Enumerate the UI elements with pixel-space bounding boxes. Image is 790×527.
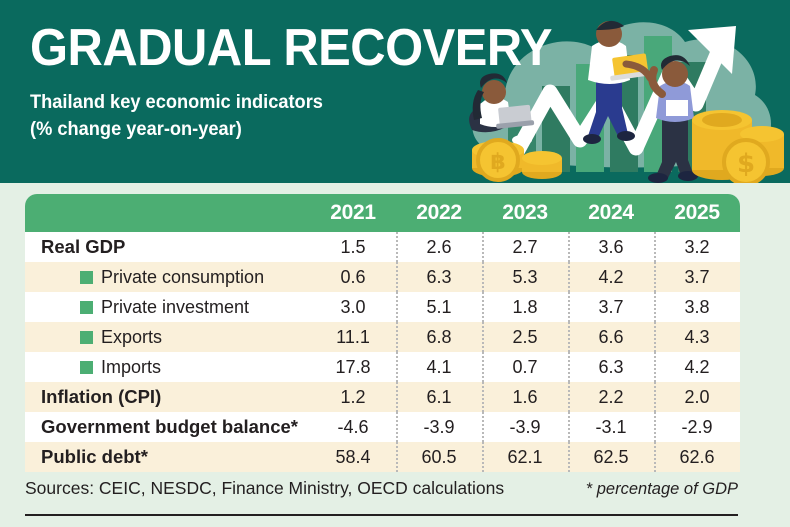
cell-value: 11.1: [310, 322, 396, 352]
cell-value: 4.1: [396, 352, 482, 382]
cell-value: 1.8: [482, 292, 568, 322]
indicators-table: 2021 2022 2023 2024 2025 Real GDP1.52.62…: [25, 194, 740, 472]
header-banner: GRADUAL RECOVERY Thailand key economic i…: [0, 0, 790, 183]
cell-value: 60.5: [396, 442, 482, 472]
coin-dollar-icon: $: [724, 140, 768, 183]
cell-value: 62.5: [568, 442, 654, 472]
cell-value: 62.1: [482, 442, 568, 472]
coin-baht-icon: ฿: [478, 140, 518, 180]
cell-value: 3.6: [568, 232, 654, 262]
svg-text:$: $: [737, 149, 755, 179]
row-label-text: Imports: [101, 357, 161, 377]
table-header: 2021 2022 2023 2024 2025: [25, 194, 740, 232]
indicators-table-wrapper: 2021 2022 2023 2024 2025 Real GDP1.52.62…: [25, 194, 740, 472]
table-row: Public debt*58.460.562.162.562.6: [25, 442, 740, 472]
cell-value: 6.3: [396, 262, 482, 292]
column-header-2023: 2023: [482, 194, 568, 232]
row-label-text: Private investment: [101, 297, 249, 317]
row-label: Private investment: [25, 292, 310, 322]
sources-text: Sources: CEIC, NESDC, Finance Ministry, …: [25, 478, 504, 499]
cell-value: 2.6: [396, 232, 482, 262]
cell-value: 2.5: [482, 322, 568, 352]
cell-value: 6.3: [568, 352, 654, 382]
page-title: GRADUAL RECOVERY: [30, 20, 552, 76]
subtitle-line-1: Thailand key economic indicators: [30, 90, 563, 115]
cell-value: 0.7: [482, 352, 568, 382]
bullet-square-icon: [80, 331, 93, 344]
table-row: Private consumption0.66.35.34.23.7: [25, 262, 740, 292]
cell-value: 58.4: [310, 442, 396, 472]
cell-value: 2.7: [482, 232, 568, 262]
cell-value: 2.0: [654, 382, 740, 412]
header-text-group: GRADUAL RECOVERY Thailand key economic i…: [30, 20, 585, 142]
table-row: Real GDP1.52.62.73.63.2: [25, 232, 740, 262]
cell-value: 4.2: [654, 352, 740, 382]
cell-value: 6.8: [396, 322, 482, 352]
cell-value: 3.7: [568, 292, 654, 322]
cell-value: 3.7: [654, 262, 740, 292]
table-row: Exports11.16.82.56.64.3: [25, 322, 740, 352]
column-header-indicator: [25, 194, 310, 232]
cell-value: 2.2: [568, 382, 654, 412]
cell-value: 5.3: [482, 262, 568, 292]
cell-value: 1.2: [310, 382, 396, 412]
cell-value: 6.6: [568, 322, 654, 352]
cell-value: 6.1: [396, 382, 482, 412]
cell-value: 62.6: [654, 442, 740, 472]
cell-value: -3.9: [396, 412, 482, 442]
column-header-2021: 2021: [310, 194, 396, 232]
table-header-row: 2021 2022 2023 2024 2025: [25, 194, 740, 232]
cell-value: 4.2: [568, 262, 654, 292]
cell-value: 3.8: [654, 292, 740, 322]
bottom-divider: [25, 514, 738, 516]
table-body: Real GDP1.52.62.73.63.2Private consumpti…: [25, 232, 740, 472]
bullet-square-icon: [80, 271, 93, 284]
cell-value: 1.6: [482, 382, 568, 412]
cell-value: 5.1: [396, 292, 482, 322]
row-label-text: Exports: [101, 327, 162, 347]
column-header-2025: 2025: [654, 194, 740, 232]
bullet-square-icon: [80, 301, 93, 314]
column-header-2024: 2024: [568, 194, 654, 232]
svg-text:฿: ฿: [490, 150, 505, 175]
row-label: Government budget balance*: [25, 412, 310, 442]
cell-value: 4.3: [654, 322, 740, 352]
row-label: Real GDP: [25, 232, 310, 262]
infographic-root: GRADUAL RECOVERY Thailand key economic i…: [0, 0, 790, 527]
footnote-text: * percentage of GDP: [586, 480, 740, 499]
table-row: Inflation (CPI)1.26.11.62.22.0: [25, 382, 740, 412]
row-label: Exports: [25, 322, 310, 352]
cell-value: 3.0: [310, 292, 396, 322]
cell-value: 1.5: [310, 232, 396, 262]
column-header-2022: 2022: [396, 194, 482, 232]
cell-value: 3.2: [654, 232, 740, 262]
cell-value: -3.1: [568, 412, 654, 442]
row-label: Inflation (CPI): [25, 382, 310, 412]
subtitle-line-2: (% change year-on-year): [30, 117, 563, 142]
table-row: Private investment3.05.11.83.73.8: [25, 292, 740, 322]
row-label: Public debt*: [25, 442, 310, 472]
row-label: Imports: [25, 352, 310, 382]
bullet-square-icon: [80, 361, 93, 374]
table-row: Government budget balance*-4.6-3.9-3.9-3…: [25, 412, 740, 442]
row-label-text: Private consumption: [101, 267, 264, 287]
footer: Sources: CEIC, NESDC, Finance Ministry, …: [25, 478, 740, 499]
cell-value: -3.9: [482, 412, 568, 442]
cell-value: -4.6: [310, 412, 396, 442]
row-label: Private consumption: [25, 262, 310, 292]
cell-value: 0.6: [310, 262, 396, 292]
cell-value: 17.8: [310, 352, 396, 382]
table-row: Imports17.84.10.76.34.2: [25, 352, 740, 382]
cell-value: -2.9: [654, 412, 740, 442]
